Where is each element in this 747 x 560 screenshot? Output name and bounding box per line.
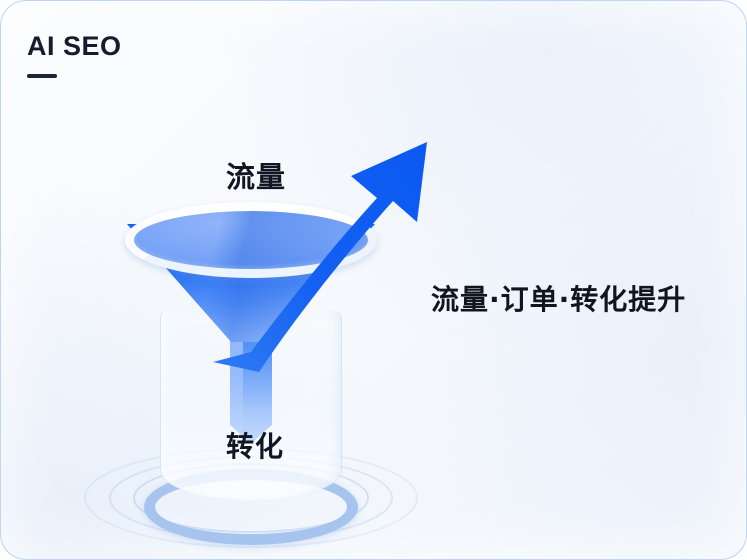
tagline-text: 流量·订单·转化提升	[431, 278, 686, 318]
seo-banner-card: AI SEO 流量·订单·转化提升	[0, 0, 747, 560]
funnel-illustration: 流量 转化	[71, 96, 431, 526]
growth-arrow-icon	[105, 94, 435, 384]
title-block: AI SEO	[27, 33, 122, 78]
label-traffic: 流量	[226, 154, 286, 196]
label-conversion: 转化	[226, 425, 284, 465]
title-underline-accent	[27, 74, 57, 78]
page-title: AI SEO	[27, 33, 122, 60]
